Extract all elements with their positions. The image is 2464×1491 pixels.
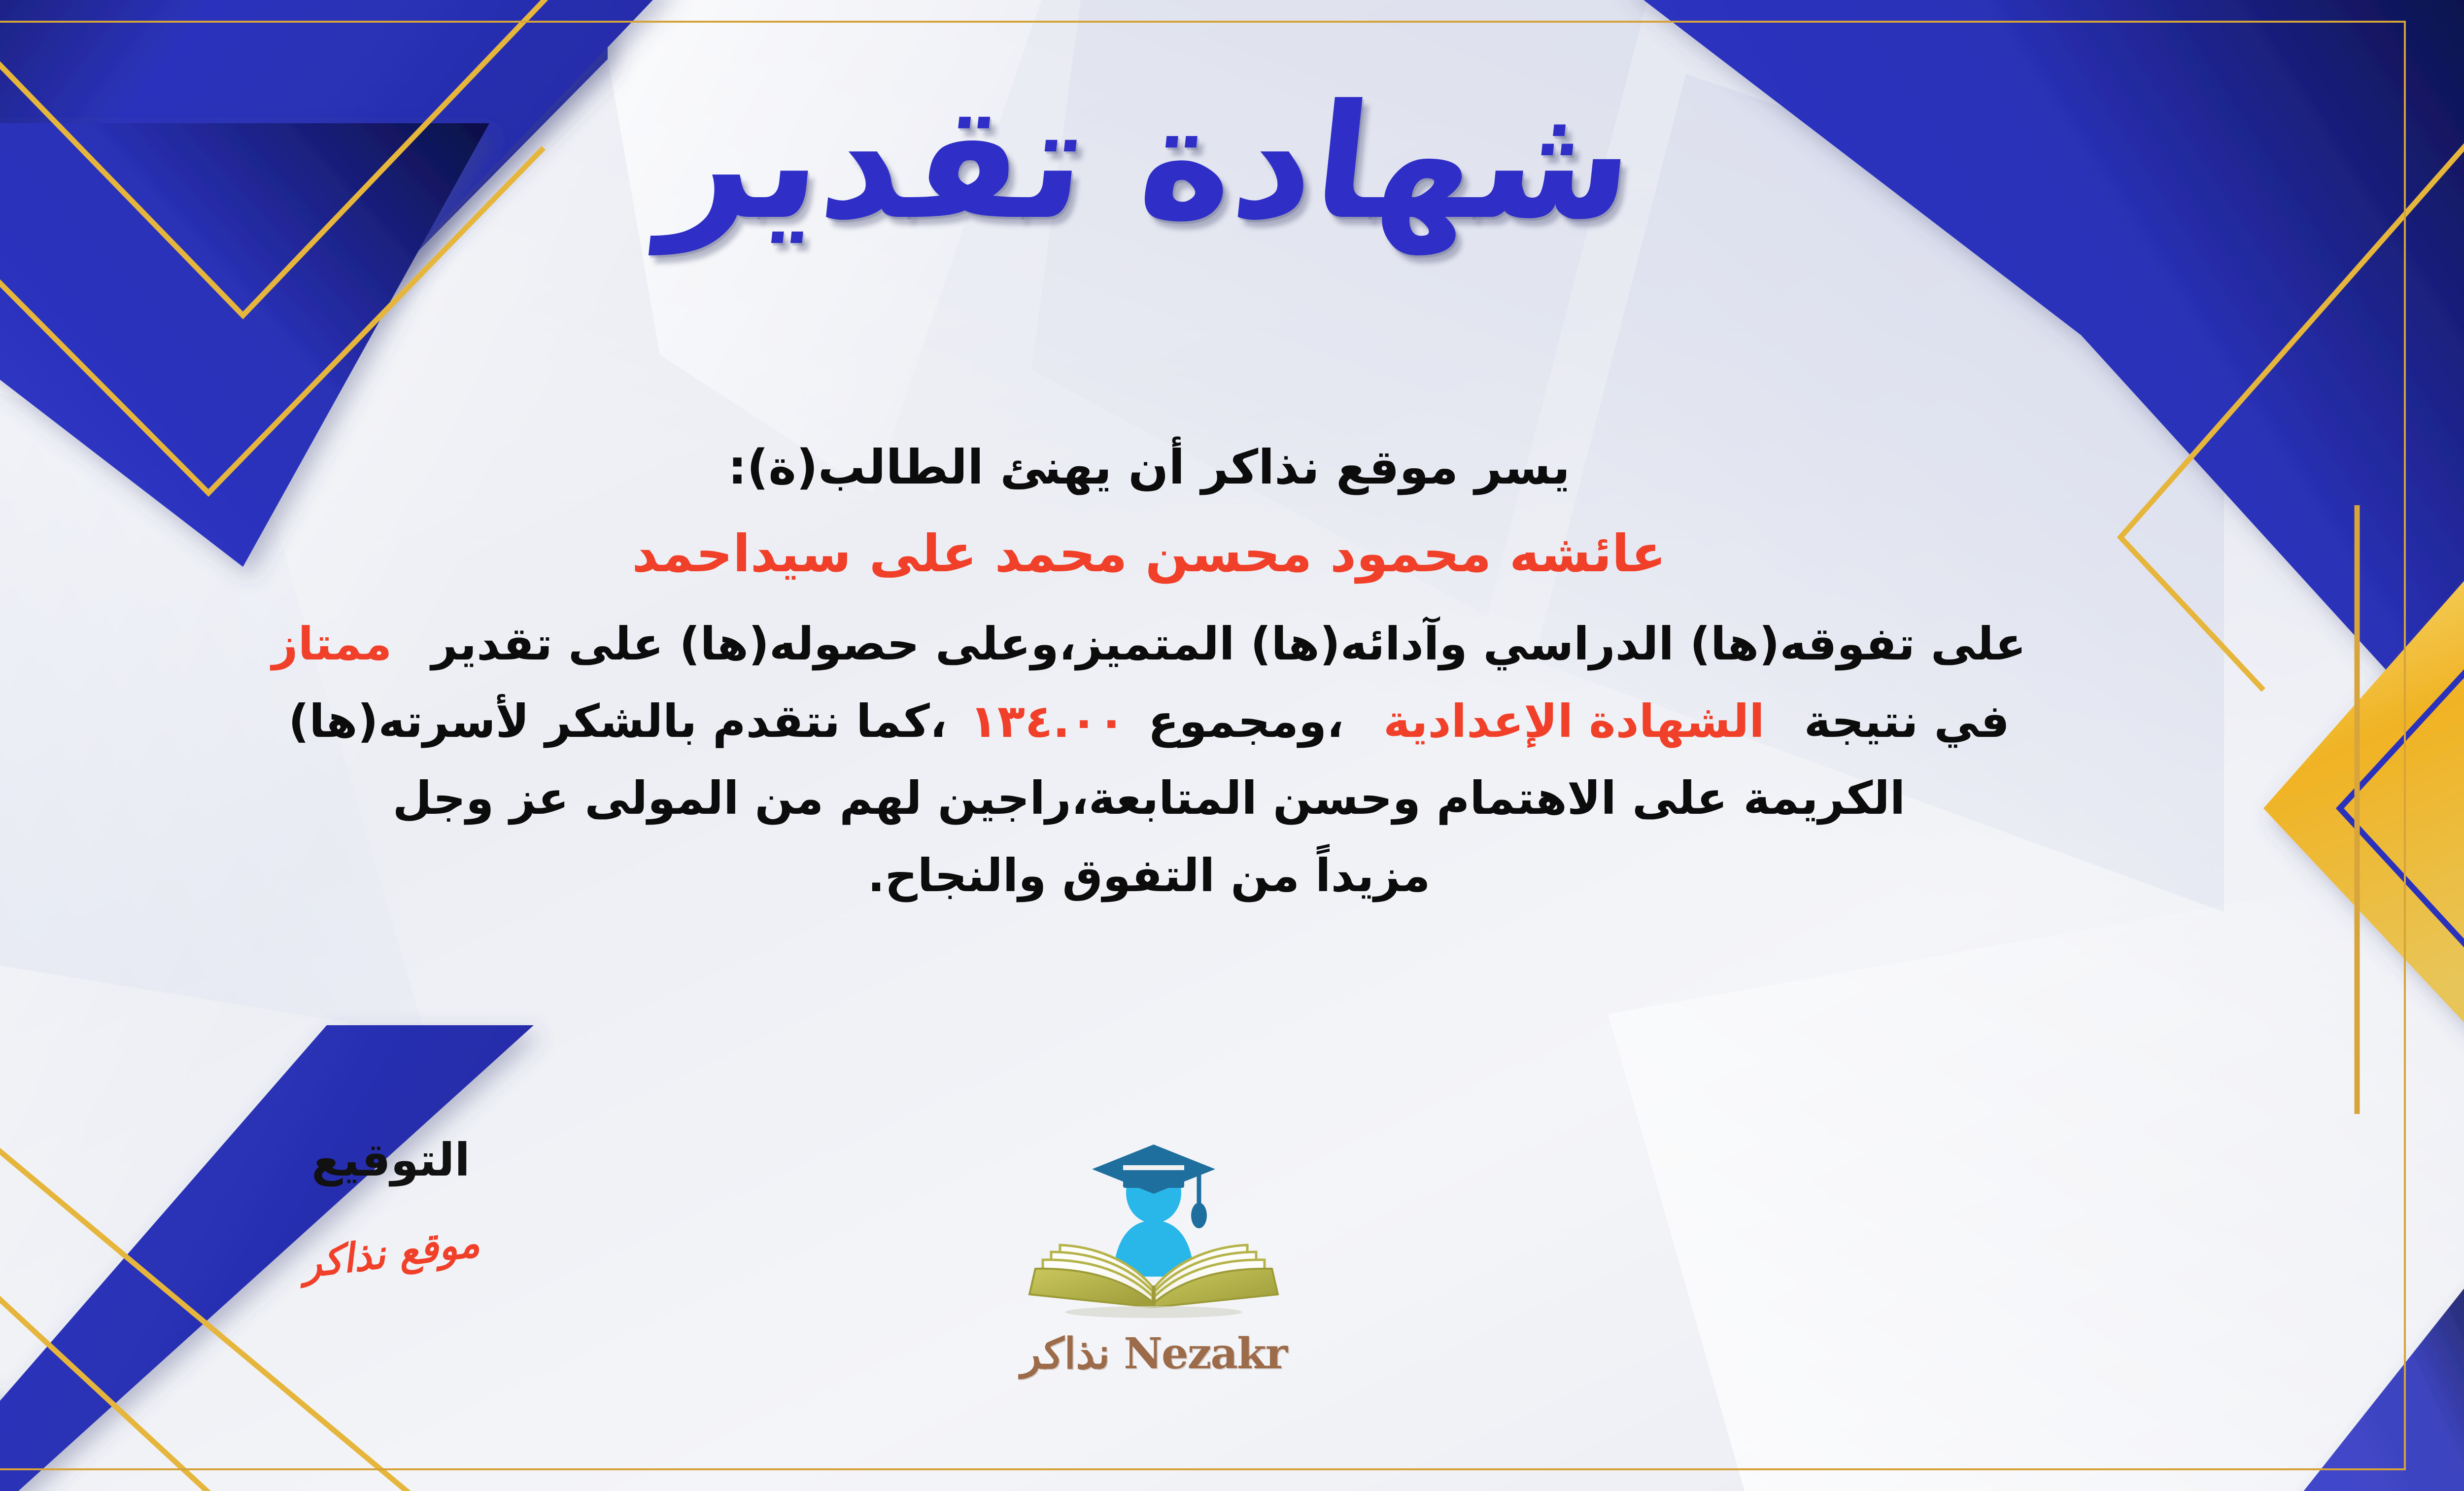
graduate-book-logo-icon	[1016, 1129, 1292, 1326]
result-line: في نتيجةالشهادة الإعدادية،ومجموع١٣٤.٠٠،ك…	[61, 690, 2237, 754]
paper-facet	[1608, 863, 2464, 1491]
intro-line: يسر موقع نذاكر أن يهنئ الطالب(ة):	[61, 434, 2237, 501]
logo-wordmark: Nezakr نذاكر	[952, 1329, 1356, 1379]
total-label: ،ومجموع	[1148, 695, 1344, 748]
student-name: عائشه محمود محسن محمد على سيداحمد	[61, 518, 2237, 590]
grade-value: ممتاز	[272, 618, 392, 670]
corner-ornament-right-gold	[2263, 505, 2464, 1114]
family-line: الكريمة على الاهتمام وحسن المتابعة،راجين…	[61, 766, 2237, 831]
signature-label: التوقيع	[238, 1134, 544, 1186]
signature-handwriting: موقع نذاكر	[300, 1219, 482, 1286]
merit-text: على تفوقه(ها) الدراسي وآدائه(ها) المتميز…	[431, 618, 2026, 670]
merit-line: على تفوقه(ها) الدراسي وآدائه(ها) المتميز…	[61, 612, 2237, 677]
certificate-title: شهادة تقدير	[0, 84, 2464, 242]
total-score: ١٣٤.٠٠	[970, 695, 1126, 748]
site-logo: Nezakr نذاكر	[952, 1129, 1356, 1405]
result-prefix: في نتيجة	[1804, 695, 2010, 748]
certificate-body: يسر موقع نذاكر أن يهنئ الطالب(ة): عائشه …	[61, 434, 2237, 921]
thanks-text: ،كما نتقدم بالشكر لأسرته(ها)	[288, 695, 947, 748]
exam-name: الشهادة الإعدادية	[1383, 695, 1765, 748]
closing-line: مزيداً من التفوق والنجاح.	[61, 844, 2237, 908]
certificate-canvas: شهادة تقدير يسر موقع نذاكر أن يهنئ الطال…	[0, 0, 2464, 1491]
signature-block: التوقيع موقع نذاكر	[238, 1134, 544, 1276]
